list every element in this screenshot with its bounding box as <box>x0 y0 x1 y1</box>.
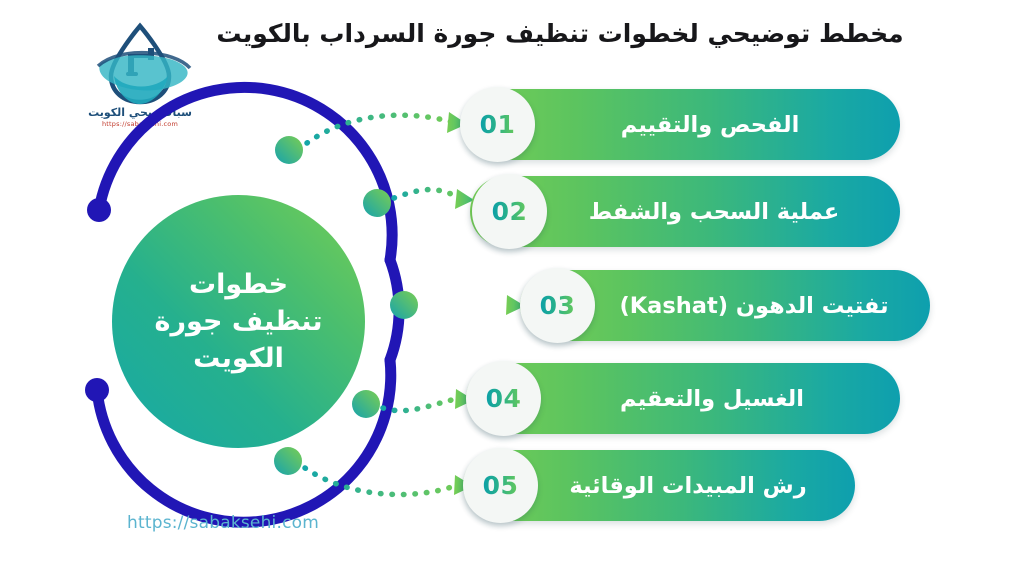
step-label-4: الغسيل والتعقيم <box>552 363 872 434</box>
step-row-3[interactable]: تفتيت الدهون (Kashat) 03 <box>520 270 930 341</box>
step-number-5: 05 <box>483 471 519 500</box>
step-number-badge-3: 03 <box>520 268 595 343</box>
step-number-2: 02 <box>492 197 528 226</box>
step-label-3: تفتيت الدهون (Kashat) <box>606 270 902 341</box>
connector-arrowheads <box>447 112 525 495</box>
step-row-5[interactable]: رش المبيدات الوقائية 05 <box>463 450 855 521</box>
step-row-1[interactable]: الفحص والتقييم 01 <box>462 89 900 160</box>
arc-start-cap <box>87 198 111 222</box>
step-number-4: 04 <box>486 384 522 413</box>
footer-url[interactable]: https://sabaksehi.com <box>127 513 319 533</box>
hub-label: خطوات تنظيف جورة الكويت <box>131 266 347 378</box>
dotted-connector-2 <box>394 190 462 198</box>
arc-node-5 <box>274 447 302 475</box>
arc-node-2 <box>363 189 391 217</box>
infographic-canvas: سباك صحي الكويت https://sabaksehi.com مخ… <box>0 0 1024 576</box>
step-number-3: 03 <box>540 291 576 320</box>
step-number-badge-1: 01 <box>460 87 535 162</box>
arc-end-cap <box>85 378 109 402</box>
dotted-connector-4 <box>383 398 460 411</box>
step-number-1: 01 <box>480 110 516 139</box>
step-row-2[interactable]: عملية السحب والشفط 02 <box>470 176 900 247</box>
step-number-badge-2: 02 <box>472 174 547 249</box>
step-label-2: عملية السحب والشفط <box>556 176 872 247</box>
arc-node-1 <box>275 136 303 164</box>
arc-node-4 <box>352 390 380 418</box>
step-label-1: الفحص والتقييم <box>548 89 872 160</box>
step-row-4[interactable]: الغسيل والتعقيم 04 <box>466 363 900 434</box>
hub-circle: خطوات تنظيف جورة الكويت <box>112 195 365 448</box>
step-label-5: رش المبيدات الوقائية <box>549 450 827 521</box>
step-number-badge-4: 04 <box>466 361 541 436</box>
step-number-badge-5: 05 <box>463 448 538 523</box>
arc-node-3 <box>390 291 418 319</box>
